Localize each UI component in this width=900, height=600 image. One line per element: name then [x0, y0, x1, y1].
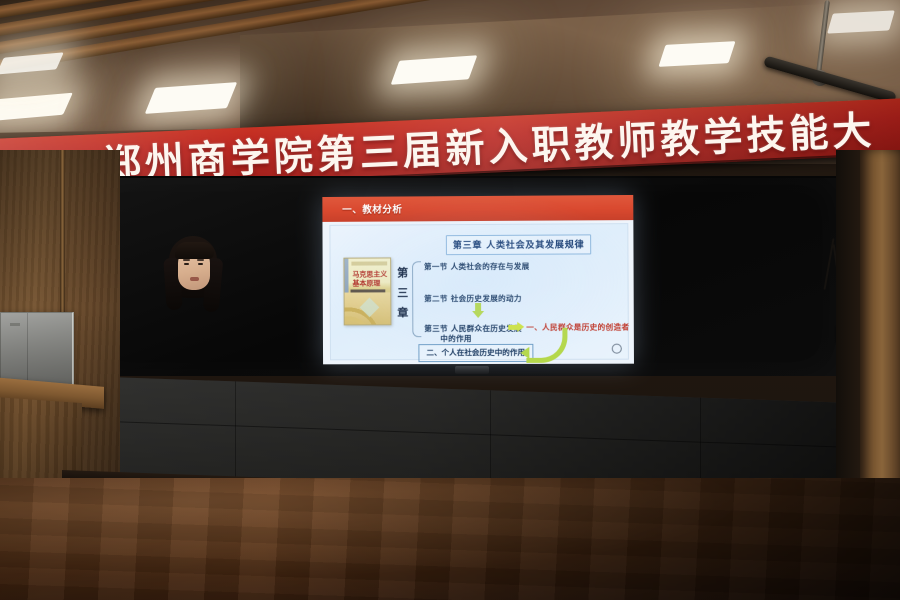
presenter-eyebrow-right: [197, 259, 204, 261]
textbook-cover-image: 马克思主义 基本原理 第二版: [343, 257, 391, 325]
slide-body: 第三章 人类社会及其发展规律 马克思主义 基本原理 第二版 第 三 章 第一节 …: [329, 223, 629, 360]
book-top-band: [351, 261, 387, 265]
projected-slide[interactable]: 一、教材分析 第三章 人类社会及其发展规律 马克思主义 基本原理 第二版 第 三…: [322, 195, 634, 364]
presenter-eyebrow-left: [183, 259, 190, 261]
curved-arrow-icon: [526, 328, 567, 363]
presenter-fringe: [175, 242, 214, 259]
slide-section-1: 第一节 人类社会的存在与发展: [424, 261, 530, 272]
chapter-char-3: 章: [396, 303, 409, 323]
mouse-cursor-icon: [612, 344, 622, 354]
lecture-hall-photo: 郑州商学院第三届新入职教师教学技能大 一、教材分析 第三章 人类社会及其发展规律…: [0, 0, 900, 600]
brace-bracket: [412, 261, 421, 337]
chapter-vertical-label: 第 三 章: [396, 263, 409, 323]
cabinet-shading: [0, 312, 72, 384]
slide-section-2: 第二节 社会历史发展的动力: [424, 293, 522, 304]
slide-section-3-continuation: 中的作用: [440, 333, 472, 344]
presenter-mouth: [190, 277, 199, 281]
ceiling-light-icon: [827, 10, 895, 33]
curved-arrow-head-icon: [520, 347, 529, 359]
book-title-line2: 基本原理: [352, 278, 380, 288]
chapter-char-2: 三: [396, 283, 409, 303]
display-brand-logo: [455, 366, 489, 374]
ceiling-light-icon: [658, 41, 735, 67]
presenter-neck: [187, 286, 203, 300]
slide-boxed-point-2: 二、个人在社会历史中的作用: [418, 344, 533, 362]
slide-chapter-title: 第三章 人类社会及其发展规律: [446, 234, 592, 255]
chapter-char-1: 第: [396, 263, 409, 283]
presenter: [135, 236, 270, 566]
slide-section-label: 一、教材分析: [342, 201, 402, 215]
